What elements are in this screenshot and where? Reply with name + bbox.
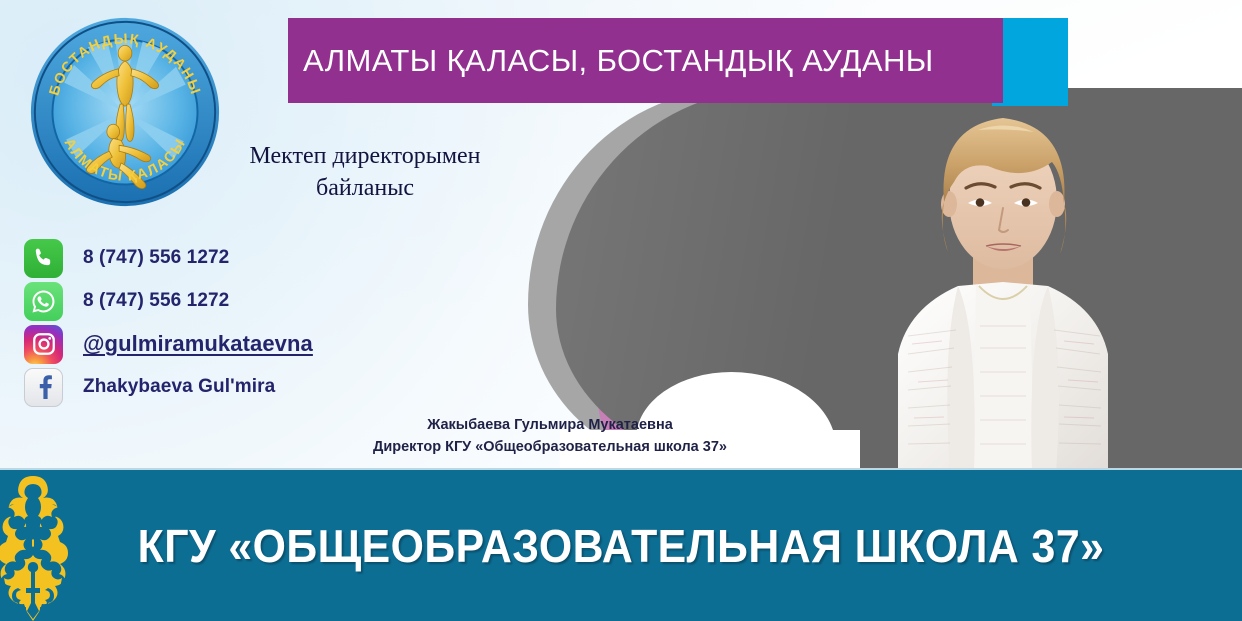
instagram-icon[interactable] [24, 325, 63, 364]
contact-row-phone[interactable]: 8 (747) 556 1272 [24, 237, 313, 279]
director-name: Жакыбаева Гульмира Мукатаевна [300, 414, 800, 436]
contact-row-whatsapp[interactable]: 8 (747) 556 1272 [24, 280, 313, 322]
contact-headline-line2: байланыс [200, 172, 530, 204]
whatsapp-icon[interactable] [24, 282, 63, 321]
school-name-banner: КГУ «ОБЩЕОБРАЗОВАТЕЛЬНАЯ ШКОЛА 37» [0, 468, 1242, 621]
phone-icon[interactable] [24, 239, 63, 278]
contact-label-whatsapp: 8 (747) 556 1272 [83, 290, 229, 312]
contact-label-facebook: Zhakybaeva Gul'mira [83, 376, 275, 398]
contact-row-facebook[interactable]: Zhakybaeva Gul'mira [24, 366, 313, 408]
director-position: Директор КГУ «Общеобразовательная школа … [300, 436, 800, 458]
presentation-slide: АЛМАТЫ ҚАЛАСЫ, БОСТАНДЫҚ АУДАНЫ [0, 0, 1242, 621]
contact-label-phone: 8 (747) 556 1272 [83, 247, 229, 269]
contact-row-instagram[interactable]: @gulmiramukataevna [24, 323, 313, 365]
director-caption: Жакыбаева Гульмира Мукатаевна Директор К… [300, 414, 800, 459]
school-name-text: КГУ «ОБЩЕОБРАЗОВАТЕЛЬНАЯ ШКОЛА 37» [43, 470, 1198, 621]
contact-headline: Мектеп директорымен байланыс [200, 140, 530, 204]
district-banner-text: АЛМАТЫ ҚАЛАСЫ, БОСТАНДЫҚ АУДАНЫ [303, 43, 934, 79]
facebook-icon[interactable] [24, 368, 63, 407]
director-photo [838, 86, 1168, 474]
contacts-list: 8 (747) 556 1272 8 (747) 556 1272 @gulmi… [24, 237, 313, 409]
contact-headline-line1: Мектеп директорымен [200, 140, 530, 172]
district-emblem-logo: БОСТАНДЫҚ АУДАНЫ АЛМАТЫ ҚАЛАСЫ [27, 14, 223, 210]
contact-label-instagram[interactable]: @gulmiramukataevna [83, 331, 313, 357]
